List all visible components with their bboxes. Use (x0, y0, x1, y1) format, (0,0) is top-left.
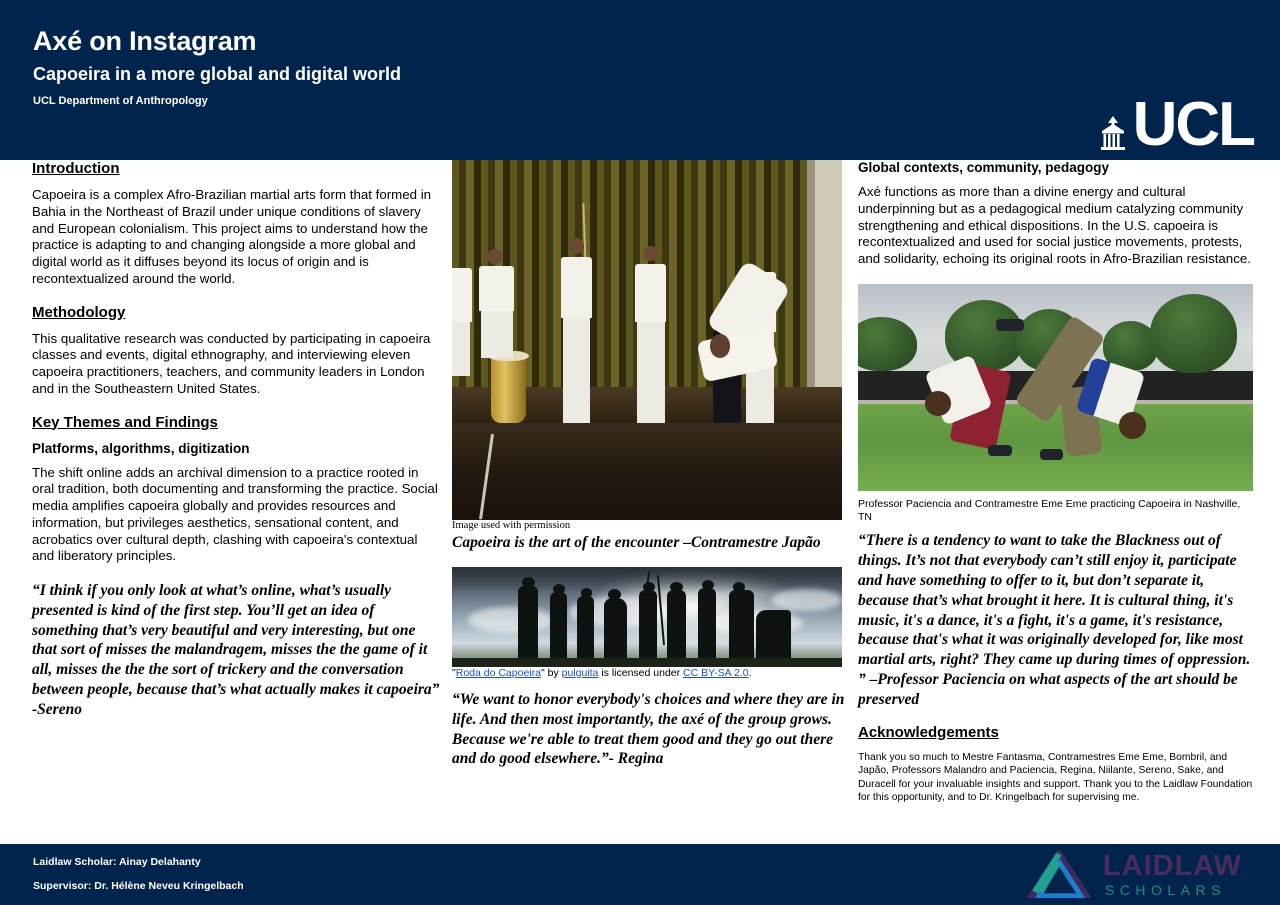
heading-key-themes: Key Themes and Findings (32, 414, 442, 431)
footer-supervisor: Supervisor: Dr. Hélène Neveu Kringelbach (33, 880, 244, 892)
attrib-licensed-under: is licensed under (598, 667, 683, 679)
quote-regina: “We want to honor everybody's choices an… (452, 690, 847, 769)
quote-sereno: “I think if you only look at what’s onli… (32, 581, 442, 720)
image-attribution: "Roda do Capoeira" by pulguita is licens… (452, 667, 847, 680)
laidlaw-triangle-icon (1027, 850, 1091, 898)
attrib-period: . (749, 667, 752, 679)
image-capoeira-roda-hall (452, 160, 842, 520)
ucl-portico-icon (1098, 115, 1128, 151)
poster-footer: Laidlaw Scholar: Ainay Delahanty Supervi… (0, 844, 1280, 905)
column-middle: Image used with permission Capoeira is t… (452, 160, 847, 783)
quote-japao: Capoeira is the art of the encounter –Co… (452, 533, 847, 553)
page-subtitle: Capoeira in a more global and digital wo… (33, 64, 401, 85)
subheading-platforms: Platforms, algorithms, digitization (32, 441, 442, 456)
quote-paciencia: “There is a tendency to want to take the… (858, 531, 1253, 709)
laidlaw-wordmark: LAIDLAW (1103, 852, 1242, 881)
ucl-logo-text: UCL (1133, 100, 1254, 151)
heading-global-contexts: Global contexts, community, pedagogy (858, 160, 1253, 175)
laidlaw-logo: LAIDLAW SCHOLARS (1027, 850, 1242, 898)
laidlaw-subtext: SCHOLARS (1103, 883, 1242, 897)
text-platforms: The shift online adds an archival dimens… (32, 465, 442, 566)
footer-scholar: Laidlaw Scholar: Ainay Delahanty (33, 856, 201, 868)
text-global-contexts: Axé functions as more than a divine ener… (858, 184, 1253, 268)
link-author[interactable]: pulguita (562, 667, 599, 679)
caption-image-credit: Image used with permission (452, 520, 847, 531)
link-work-title[interactable]: Roda do Capoeira (456, 667, 541, 679)
page-title: Axé on Instagram (33, 26, 256, 57)
text-methodology: This qualitative research was conducted … (32, 331, 442, 398)
caption-park-image: Professor Paciencia and Contramestre Eme… (858, 498, 1253, 524)
poster-header: Axé on Instagram Capoeira in a more glob… (0, 0, 1280, 160)
heading-methodology: Methodology (32, 304, 442, 321)
text-introduction: Capoeira is a complex Afro-Brazilian mar… (32, 187, 442, 288)
attrib-by: " by (541, 667, 562, 679)
poster-body: Introduction Capoeira is a complex Afro-… (0, 160, 1280, 844)
heading-introduction: Introduction (32, 160, 442, 177)
ucl-logo: UCL (1098, 100, 1254, 151)
column-right: Global contexts, community, pedagogy Axé… (858, 160, 1253, 804)
link-license[interactable]: CC BY-SA 2.0 (683, 667, 749, 679)
image-park-capoeira (858, 284, 1253, 491)
text-acknowledgements: Thank you so much to Mestre Fantasma, Co… (858, 751, 1253, 805)
image-roda-silhouette (452, 567, 842, 667)
heading-acknowledgements: Acknowledgements (858, 724, 1253, 741)
column-left: Introduction Capoeira is a complex Afro-… (32, 160, 442, 734)
department-label: UCL Department of Anthropology (33, 95, 208, 107)
